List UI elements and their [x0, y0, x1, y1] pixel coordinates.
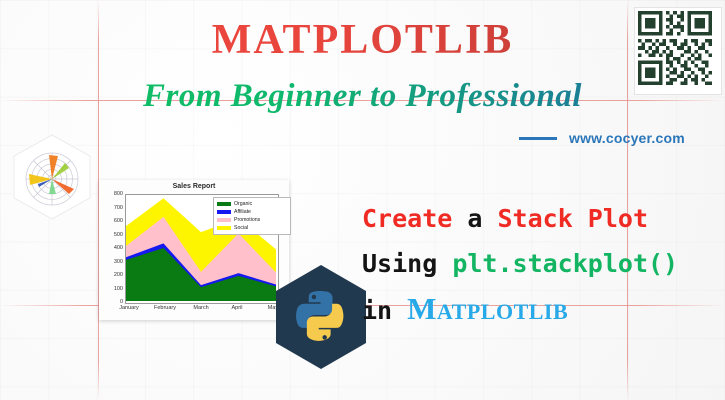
copy-line-3: in Matplotlib — [362, 286, 662, 333]
legend-item-promotions: Promotions — [217, 216, 287, 224]
copy-a: a — [467, 204, 482, 233]
y-tick-200: 200 — [99, 272, 123, 278]
polar-badge-svg — [8, 133, 96, 221]
website-url-label: www.cocyer.com — [569, 130, 685, 146]
y-tick-100: 100 — [99, 286, 123, 292]
legend-item-organic: Organic — [217, 200, 287, 208]
copy-stackplot-call: plt.stackplot() — [452, 249, 678, 278]
legend-label-organic: Organic — [234, 201, 252, 207]
copy-create: Create — [362, 204, 452, 233]
poster-title: MATPLOTLIB — [0, 16, 725, 64]
y-tick-400: 400 — [99, 245, 123, 251]
y-tick-300: 300 — [99, 259, 123, 265]
copy-block: Create a Stack Plot Using plt.stackplot(… — [362, 196, 662, 333]
x-tick-february: February — [154, 305, 176, 311]
copy-matplotlib: Matplotlib — [407, 291, 568, 326]
copy-in: in — [362, 296, 392, 325]
y-tick-800: 800 — [99, 191, 123, 197]
polar-chart-badge-icon — [8, 133, 96, 221]
x-tick-april: April — [231, 305, 242, 311]
chart-legend: Organic Affiliate Promotions Social — [213, 197, 291, 235]
python-logo-hexagon-icon — [272, 263, 370, 371]
website-link[interactable]: www.cocyer.com — [519, 130, 685, 146]
x-tick-january: January — [119, 305, 139, 311]
legend-label-promotions: Promotions — [234, 217, 260, 223]
legend-item-social: Social — [217, 224, 287, 232]
copy-line-1: Create a Stack Plot — [362, 196, 662, 241]
poster-canvas: MATPLOTLIB From Beginner to Professional… — [0, 0, 725, 400]
legend-item-affiliate: Affiliate — [217, 208, 287, 216]
legend-swatch-promotions — [217, 218, 231, 222]
y-tick-600: 600 — [99, 218, 123, 224]
legend-swatch-organic — [217, 202, 231, 206]
legend-swatch-social — [217, 226, 231, 230]
chart-title: Sales Report — [99, 183, 289, 190]
legend-label-social: Social — [234, 225, 248, 231]
python-hex-svg — [272, 263, 370, 371]
legend-swatch-affiliate — [217, 210, 231, 214]
stackplot-figure: Sales Report 0 100 200 300 400 500 600 7… — [99, 180, 289, 320]
link-dash-icon — [519, 137, 557, 140]
y-tick-700: 700 — [99, 205, 123, 211]
poster-subtitle: From Beginner to Professional — [0, 78, 725, 115]
qr-code-svg — [638, 11, 712, 85]
qr-code-icon[interactable] — [635, 8, 721, 94]
legend-label-affiliate: Affiliate — [234, 209, 251, 215]
copy-using: Using — [362, 249, 437, 278]
copy-stack-plot: Stack Plot — [498, 204, 649, 233]
y-tick-500: 500 — [99, 232, 123, 238]
x-tick-march: March — [193, 305, 208, 311]
copy-line-2: Using plt.stackplot() — [362, 241, 662, 286]
